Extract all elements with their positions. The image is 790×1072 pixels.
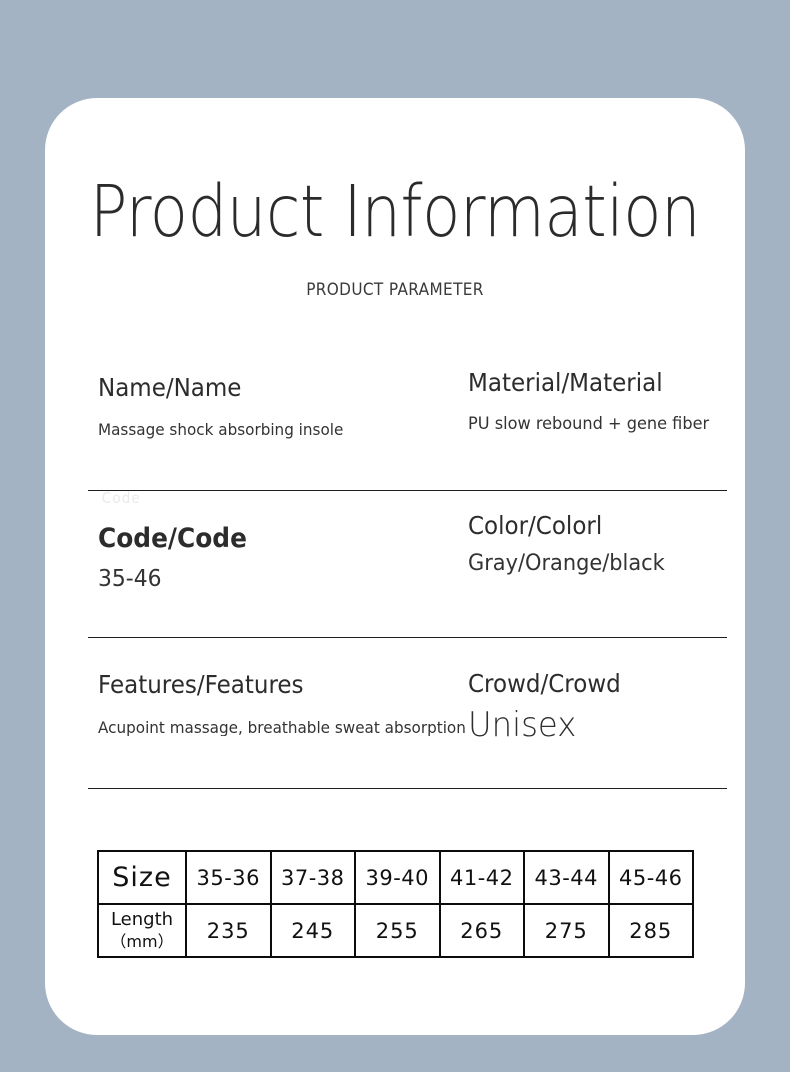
row-divider xyxy=(88,788,727,789)
table-cell-size: 35-36 xyxy=(186,851,271,904)
page-title: Product Information xyxy=(87,176,703,247)
size-chart-table: Size 35-36 37-38 39-40 41-42 43-44 45-46… xyxy=(97,850,694,958)
table-cell-length: 235 xyxy=(186,904,271,957)
spec-cell-features: Features/Features Acupoint massage, brea… xyxy=(98,650,478,736)
product-info-card: Product Information PRODUCT PARAMETER Na… xyxy=(45,98,745,1035)
spec-label: Crowd/Crowd xyxy=(468,650,726,696)
table-row-length: Length （mm） 235 245 255 265 275 285 xyxy=(98,904,693,957)
spec-value: 35-46 xyxy=(98,552,459,591)
spec-row: Name/Name Massage shock absorbing insole… xyxy=(45,353,745,503)
table-cell-length: 275 xyxy=(524,904,609,957)
spec-label: Code Code/Code xyxy=(98,503,448,552)
spec-label: Material/Material xyxy=(468,353,726,395)
spec-label: Features/Features xyxy=(98,650,448,697)
spec-value: Massage shock absorbing insole xyxy=(98,400,459,438)
spec-cell-name: Name/Name Massage shock absorbing insole xyxy=(98,353,478,438)
table-cell-length: 245 xyxy=(271,904,356,957)
table-cell-length: 265 xyxy=(440,904,525,957)
table-cell-length: 285 xyxy=(609,904,694,957)
spec-cell-crowd: Crowd/Crowd Unisex xyxy=(468,650,745,742)
table-cell-size: 39-40 xyxy=(355,851,440,904)
table-header-length: Length （mm） xyxy=(98,904,186,957)
page-subtitle: PRODUCT PARAMETER xyxy=(80,280,710,300)
row-divider xyxy=(88,490,727,491)
table-row-size: Size 35-36 37-38 39-40 41-42 43-44 45-46 xyxy=(98,851,693,904)
spec-cell-code: Code Code/Code 35-46 xyxy=(98,503,478,591)
spec-value: Unisex xyxy=(468,696,734,742)
spec-value: Gray/Orange/black xyxy=(468,538,734,575)
spec-cell-color: Color/Colorl Gray/Orange/black xyxy=(468,503,745,575)
spec-label: Color/Colorl xyxy=(468,503,726,538)
spec-value: Acupoint massage, breathable sweat absor… xyxy=(98,697,469,736)
spec-label: Name/Name xyxy=(98,353,448,400)
table-cell-size: 43-44 xyxy=(524,851,609,904)
table-cell-length: 255 xyxy=(355,904,440,957)
spec-row: Code Code/Code 35-46 Color/Colorl Gray/O… xyxy=(45,503,745,653)
table-cell-size: 41-42 xyxy=(440,851,525,904)
row-divider xyxy=(88,637,727,638)
spec-cell-material: Material/Material PU slow rebound + gene… xyxy=(468,353,745,433)
table-header-length-unit: （mm） xyxy=(99,932,185,952)
table-header-length-text: Length xyxy=(111,909,173,930)
table-cell-size: 37-38 xyxy=(271,851,356,904)
spec-row: Features/Features Acupoint massage, brea… xyxy=(45,650,745,800)
table-header-size: Size xyxy=(98,851,186,904)
table-cell-size: 45-46 xyxy=(609,851,694,904)
spec-value: PU slow rebound + gene fiber xyxy=(468,395,734,433)
spec-label-text: Code/Code xyxy=(98,523,247,554)
